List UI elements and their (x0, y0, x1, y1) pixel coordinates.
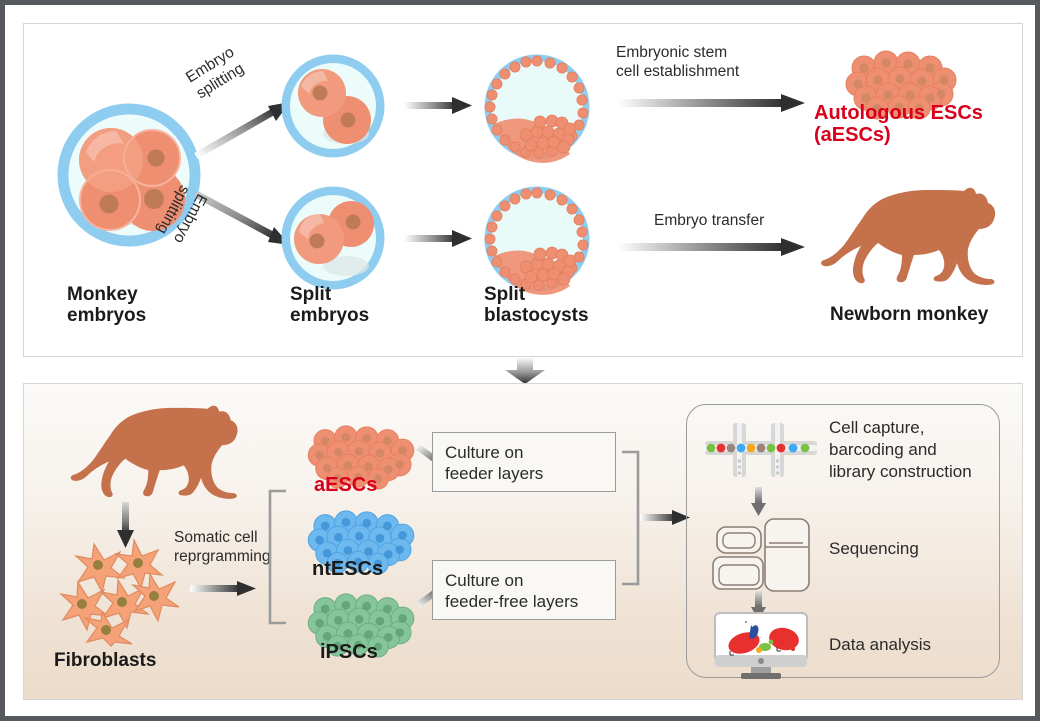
pipeline-step-data-analysis-text: Data analysis (829, 635, 931, 655)
pipeline-step-sequencing-text: Sequencing (829, 539, 919, 559)
arrow-label-embryo-transfer: Embryo transfer (654, 212, 764, 231)
label-ipscs: iPSCs (320, 641, 378, 663)
arrow-to-blastocyst-upper (404, 96, 474, 116)
fibroblast-cells (58, 534, 188, 646)
monitor-umap-icon (713, 611, 809, 681)
newborn-monkey-silhouette (814, 179, 1004, 289)
arrow-embryo-transfer (617, 236, 807, 258)
label-aescs: aESCs (314, 474, 377, 496)
panel-transition-arrow (502, 357, 548, 384)
split-embryo-lower (279, 184, 387, 292)
top-panel: Monkey embryos Embryo splitting (23, 23, 1023, 357)
adult-monkey-silhouette (64, 396, 246, 504)
pipeline-step-cell-capture-text: Cell capture, barcoding and library cons… (829, 417, 972, 482)
bracket-culture-boxes (620, 450, 642, 586)
culture-box-feeder-free[interactable]: Culture on feeder-free layers (432, 560, 616, 620)
arrow-to-pipeline (640, 508, 692, 528)
arrow-label-esc-establishment: Embryonic stem cell establishment (616, 44, 739, 81)
arrow-capture-to-sequencing (749, 487, 769, 517)
arrow-to-blastocyst-lower (404, 229, 474, 249)
bracket-reprogrammed-cells (266, 489, 288, 625)
label-newborn-monkey: Newborn monkey (830, 304, 988, 325)
arrow-somatic-reprogramming (190, 579, 258, 599)
label-fibroblasts: Fibroblasts (54, 650, 156, 671)
split-blastocyst-upper (482, 52, 592, 162)
label-autologous-escs: Autologous ESCs (aESCs) (814, 102, 983, 147)
label-split-blastocysts: Split blastocysts (484, 284, 589, 327)
arrow-esc-establishment (617, 92, 807, 114)
pipeline-container: Cell capture, barcoding and library cons… (686, 404, 1000, 678)
label-ntescs: ntESCs (312, 558, 383, 580)
bottom-panel: Fibroblasts Somatic cell reprgramming (23, 383, 1023, 700)
split-blastocyst-lower (482, 184, 592, 294)
sequencer-icon (711, 517, 811, 593)
arrow-label-somatic-reprogramming: Somatic cell reprgramming (174, 529, 270, 566)
culture-box-feeder-free-text: Culture on feeder-free layers (445, 570, 578, 613)
figure-root: Monkey embryos Embryo splitting (0, 0, 1040, 721)
culture-box-feeder-text: Culture on feeder layers (445, 442, 543, 485)
split-embryo-upper (279, 52, 387, 160)
culture-box-feeder[interactable]: Culture on feeder layers (432, 432, 616, 492)
label-monkey-embryos: Monkey embryos (67, 284, 146, 327)
microfluidic-chip-icon (705, 421, 817, 479)
label-split-embryos: Split embryos (290, 284, 369, 327)
